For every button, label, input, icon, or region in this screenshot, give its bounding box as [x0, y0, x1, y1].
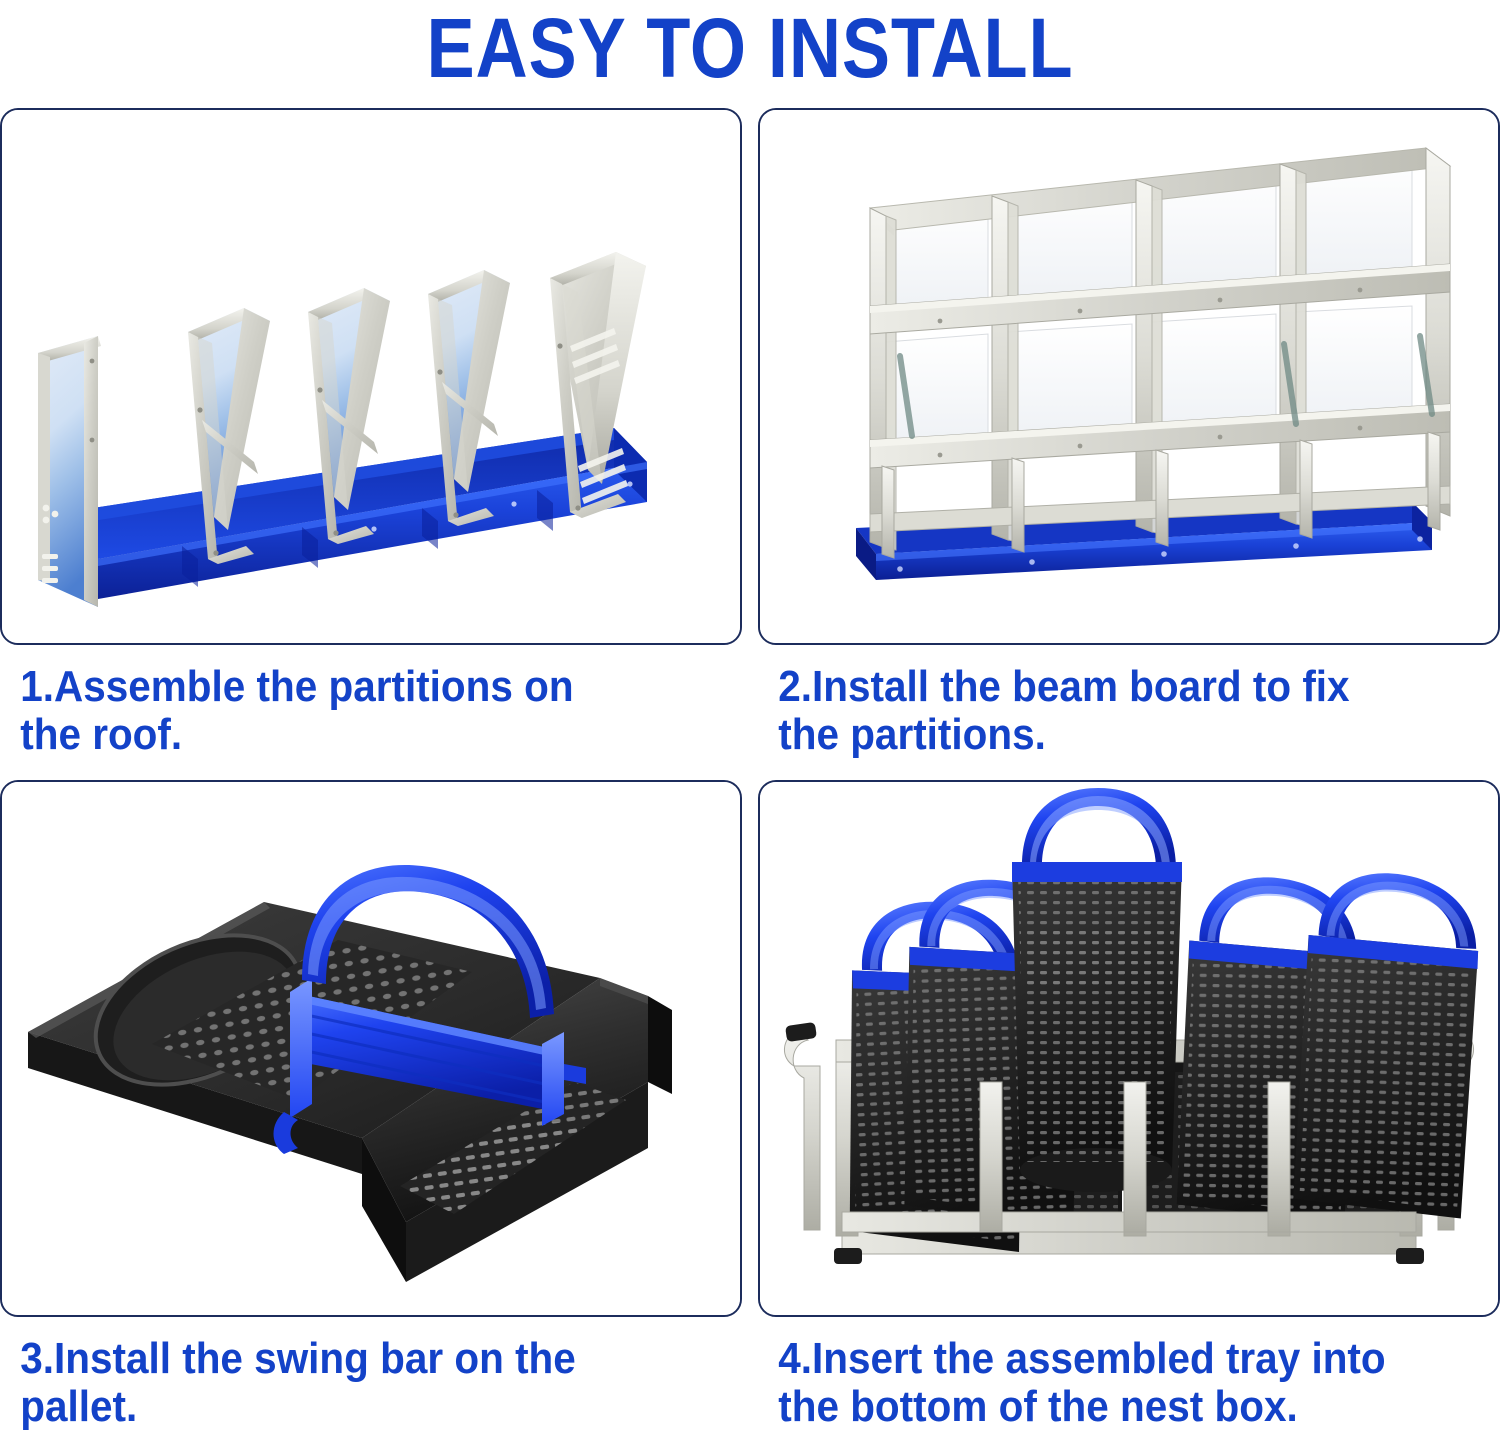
step-3-swing-bar-photo — [2, 782, 740, 1315]
step-card-2: 2.Install the beam board to fix the part… — [758, 108, 1500, 768]
step-3-caption: 3.Install the swing bar on the pallet. — [0, 1335, 683, 1431]
step-2-caption: 2.Install the beam board to fix the part… — [758, 663, 1441, 759]
step-2-photo-frame — [758, 108, 1500, 645]
step-card-4: 4.Insert the assembled tray into the bot… — [758, 780, 1500, 1440]
step-1-caption: 1.Assemble the partitions on the roof. — [0, 663, 683, 759]
step-4-photo-frame — [758, 780, 1500, 1317]
infographic-page: EASY TO INSTALL — [0, 0, 1500, 1440]
step-3-photo-frame — [0, 780, 742, 1317]
step-card-1: 1.Assemble the partitions on the roof. — [0, 108, 742, 768]
page-title: EASY TO INSTALL — [105, 0, 1395, 98]
step-card-3: 3.Install the swing bar on the pallet. — [0, 780, 742, 1440]
step-1-photo-frame — [0, 108, 742, 645]
step-4-caption: 4.Insert the assembled tray into the bot… — [758, 1335, 1441, 1431]
step-2-beam-board-photo — [760, 110, 1498, 643]
step-4-insert-tray-photo — [760, 782, 1498, 1315]
step-1-partitions-photo — [2, 110, 740, 643]
